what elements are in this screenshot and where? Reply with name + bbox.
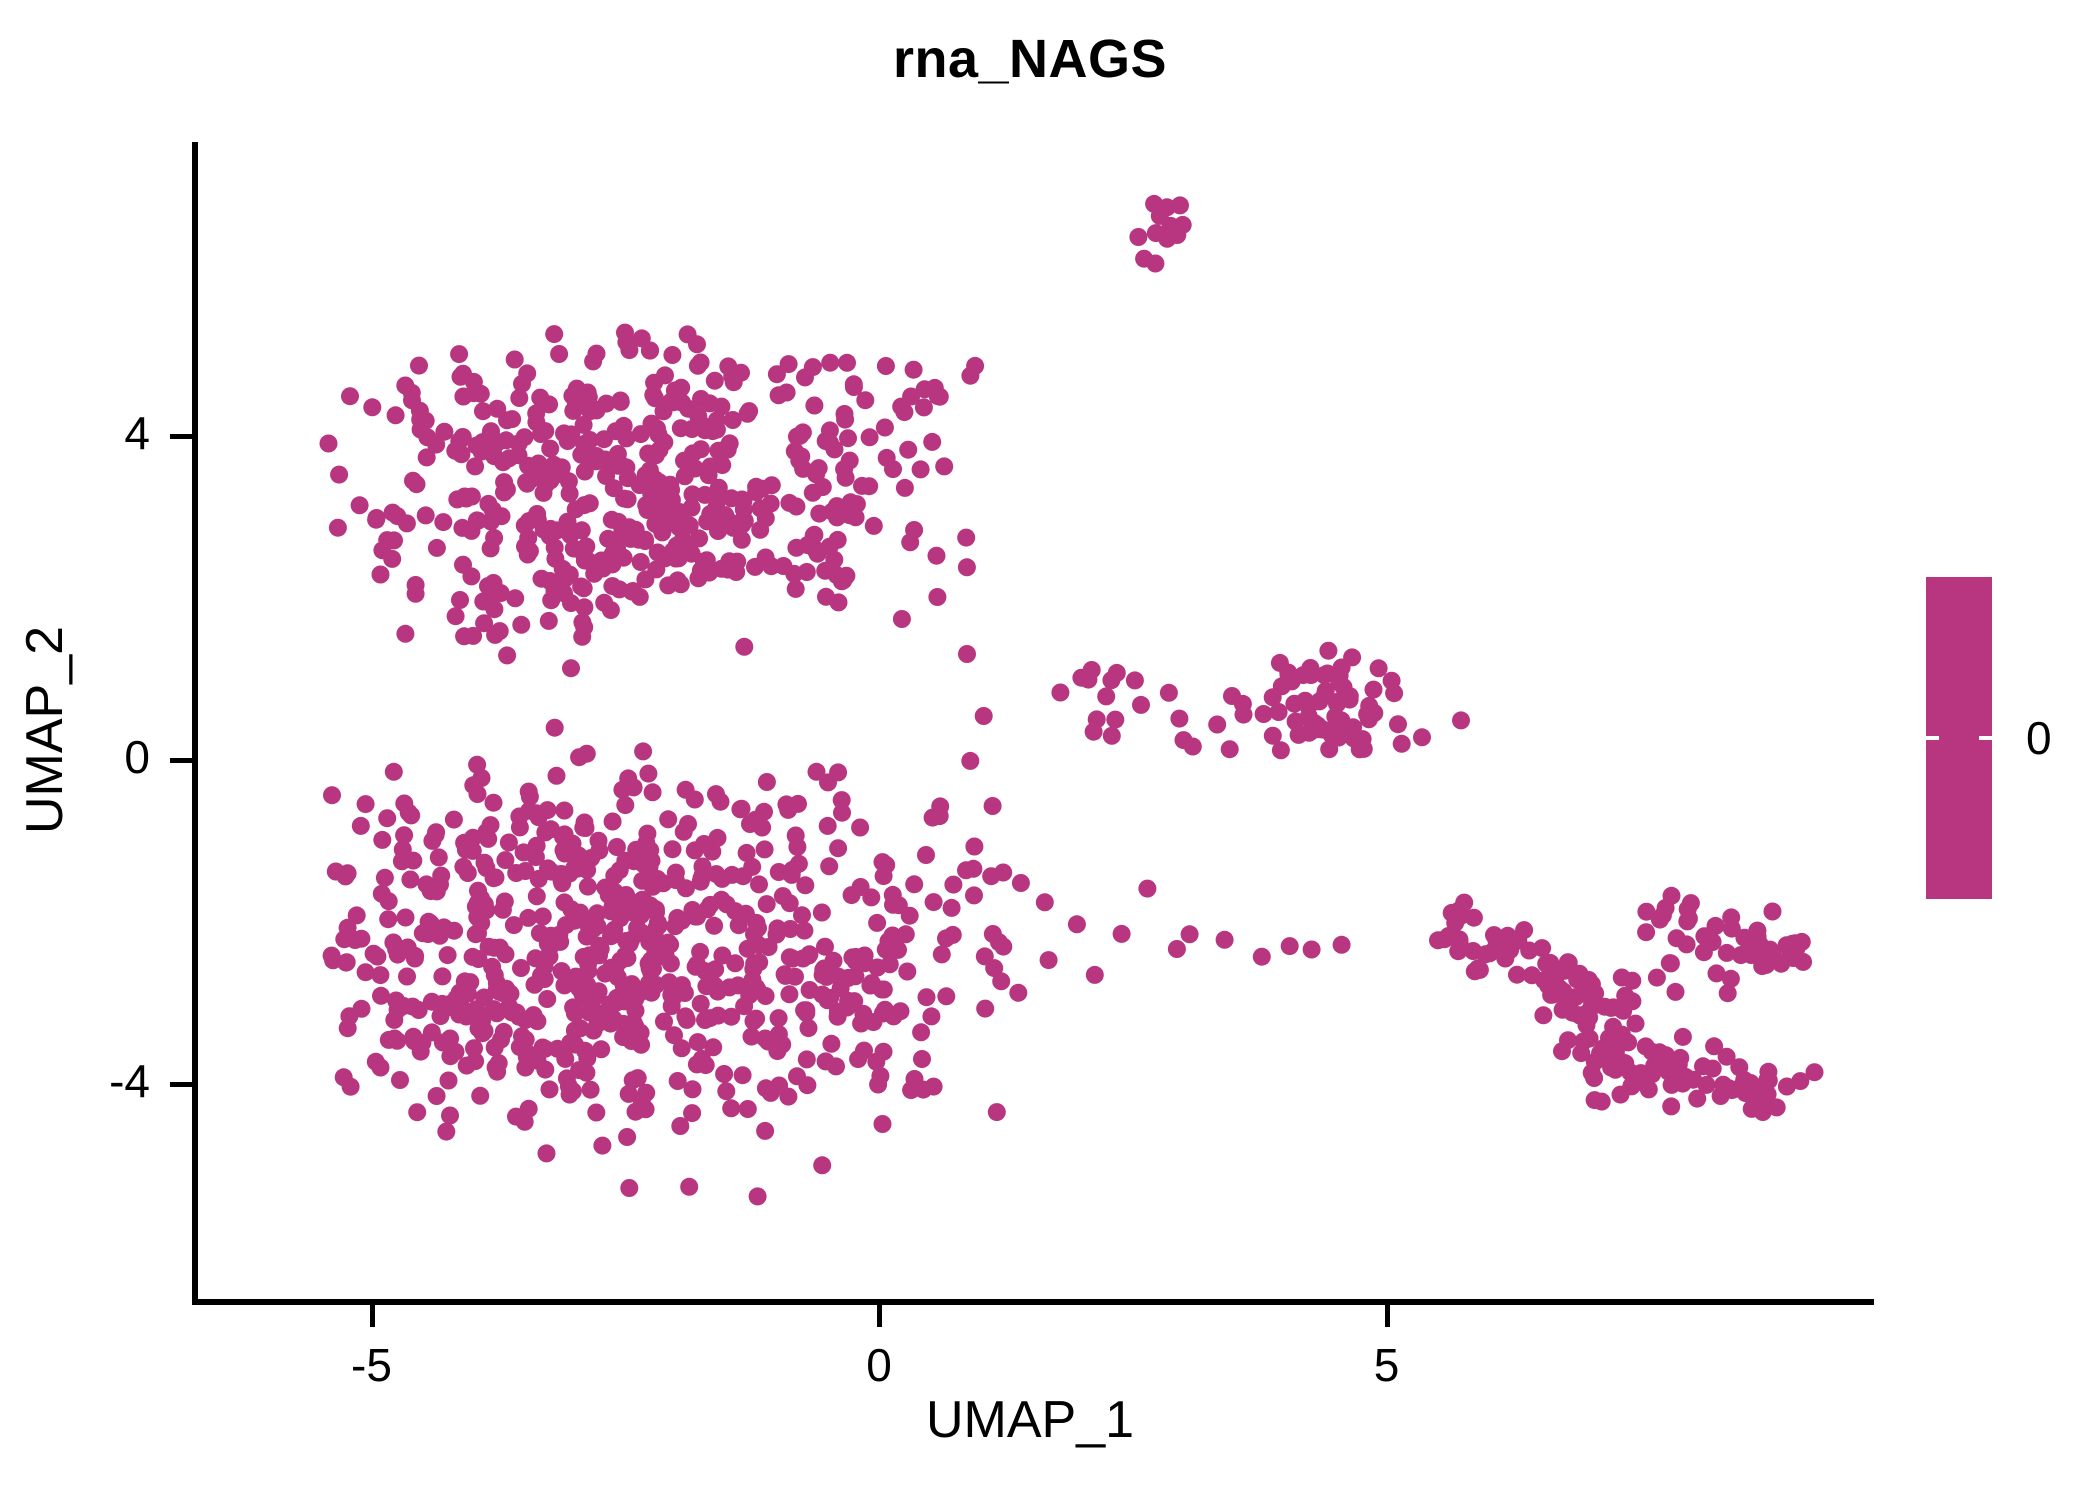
y-axis-label: UMAP_2 bbox=[15, 480, 75, 980]
y-tick-label: -4 bbox=[90, 1054, 150, 1108]
x-tick-mark bbox=[370, 1305, 375, 1327]
x-axis-label: UMAP_1 bbox=[0, 1390, 2060, 1450]
y-tick-mark bbox=[170, 758, 192, 763]
x-tick-mark bbox=[877, 1305, 882, 1327]
scatter-points-svg bbox=[0, 0, 2100, 1500]
scatter-plot-area bbox=[0, 0, 2100, 1500]
y-tick-mark bbox=[170, 434, 192, 439]
y-tick-mark bbox=[170, 1082, 192, 1087]
y-tick-label: 0 bbox=[90, 730, 150, 784]
colorbar-tick-left bbox=[1926, 736, 1939, 740]
colorbar-tick-label: 0 bbox=[2026, 711, 2052, 765]
x-tick-label: 5 bbox=[1327, 1338, 1447, 1392]
chart-root: rna_NAGS 40-4 -505 UMAP_1 UMAP_2 0 bbox=[0, 0, 2100, 1500]
scatter-points-group bbox=[320, 195, 1824, 1206]
colorbar-tick-right bbox=[1979, 736, 1992, 740]
y-tick-label: 4 bbox=[90, 406, 150, 460]
x-tick-label: 0 bbox=[819, 1338, 939, 1392]
x-tick-label: -5 bbox=[312, 1338, 432, 1392]
x-tick-mark bbox=[1385, 1305, 1390, 1327]
x-axis-line bbox=[192, 1299, 1874, 1305]
y-axis-line bbox=[192, 142, 198, 1305]
